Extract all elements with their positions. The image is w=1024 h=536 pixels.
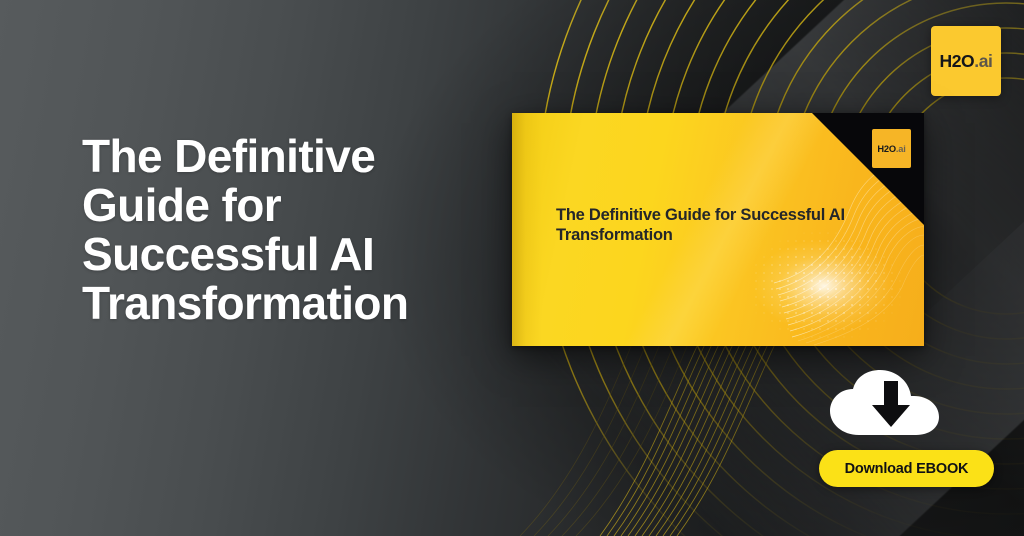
- logo-main-text: H2O: [939, 51, 974, 71]
- promo-banner: The Definitive Guide for Successful AI T…: [0, 0, 1024, 536]
- h2o-ai-logo-text: H2O.ai: [939, 51, 992, 72]
- page-title: The Definitive Guide for Successful AI T…: [82, 132, 502, 328]
- ebook-cover-title: The Definitive Guide for Successful AI T…: [556, 205, 886, 245]
- h2o-ai-logo[interactable]: H2O.ai: [931, 26, 1001, 96]
- cloud-download-icon[interactable]: [826, 369, 956, 437]
- download-ebook-button-label: Download EBOOK: [845, 461, 969, 477]
- ebook-cover[interactable]: H2O.ai The Definitive Guide for Successf…: [512, 113, 924, 346]
- ebook-logo-suffix-text: .ai: [896, 144, 906, 154]
- logo-suffix-text: .ai: [974, 51, 992, 71]
- ebook-logo-main-text: H2O: [877, 144, 896, 154]
- ebook-cover-spine: [512, 113, 542, 346]
- ebook-logo-text: H2O.ai: [877, 144, 905, 154]
- download-ebook-button[interactable]: Download EBOOK: [819, 450, 994, 487]
- ebook-cover-h2o-logo: H2O.ai: [872, 129, 911, 168]
